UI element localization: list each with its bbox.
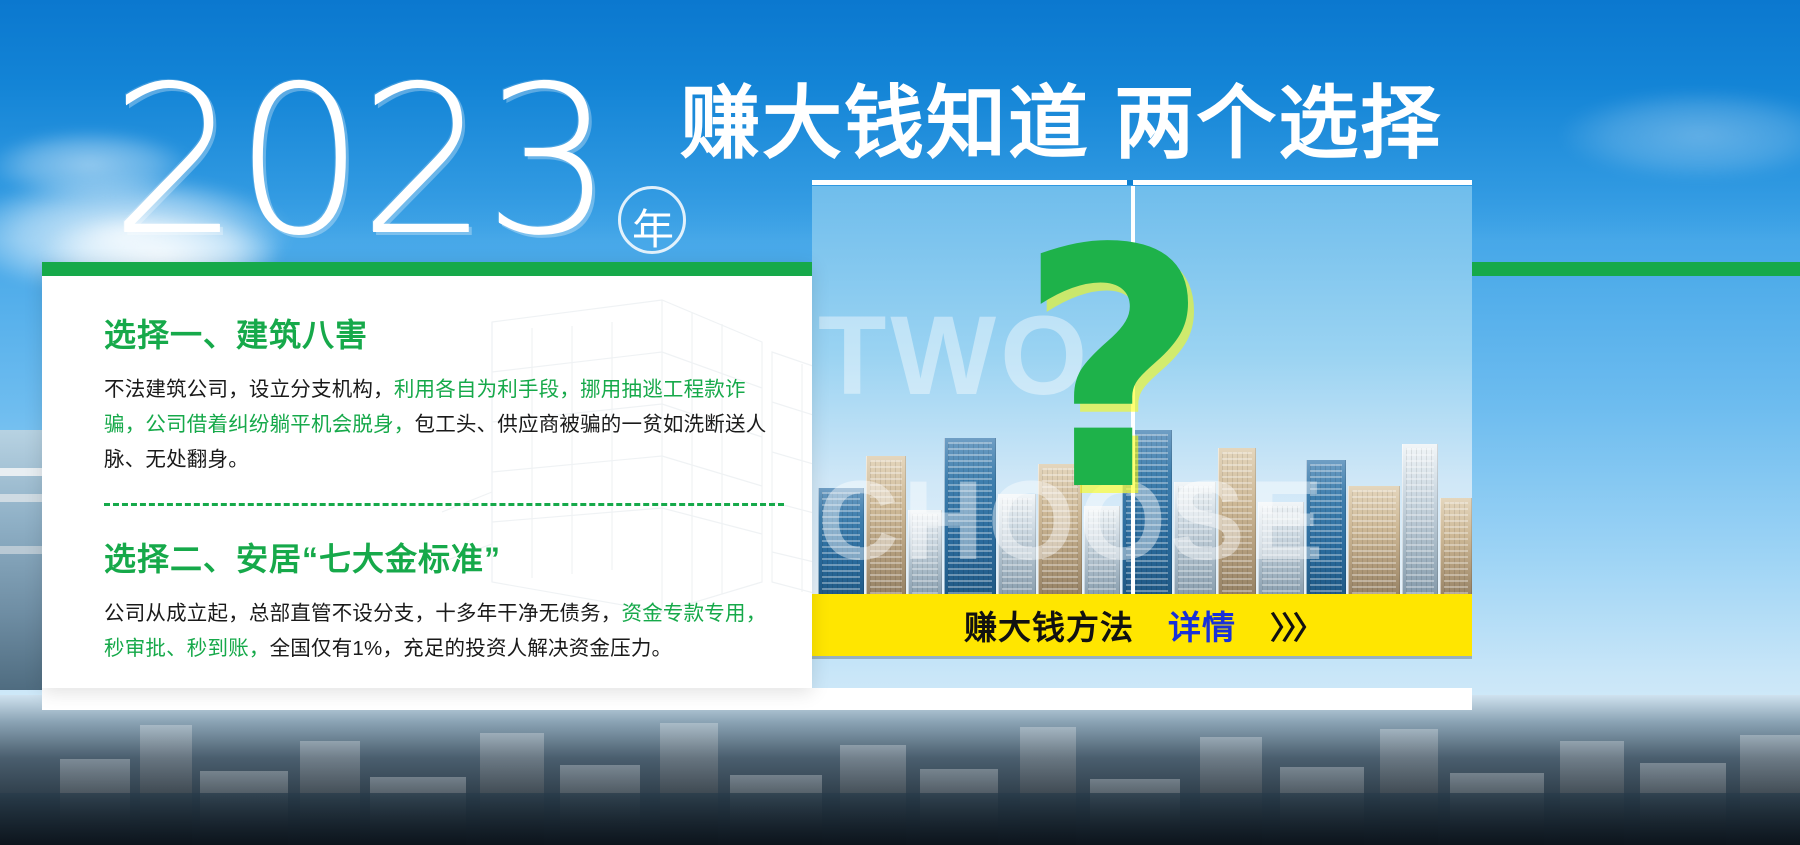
section-one-body: 不法建筑公司，设立分支机构，利用各自为利手段，挪用抽逃工程款诈骗，公司借着纠纷躺… — [104, 372, 784, 477]
card-bottom-strip — [42, 688, 1472, 710]
section-two-body: 公司从成立起，总部直管不设分支，十多年干净无债务，资金专款专用，秒审批、秒到账，… — [104, 596, 784, 666]
right-green-accent-bar — [1472, 262, 1800, 276]
year-suffix-label: 年 — [632, 196, 674, 257]
card-content: 选择一、建筑八害 不法建筑公司，设立分支机构，利用各自为利手段，挪用抽逃工程款诈… — [104, 310, 784, 666]
chevron-right-icon: 〉〉〉 — [1270, 603, 1320, 648]
page-title: 赚大钱知道 两个选择 — [680, 78, 1442, 170]
poster-canvas: 2023 年 赚大钱知道 两个选择 TWO CHOOSE ? — [0, 0, 1800, 845]
question-mark-icon: ? — [1018, 206, 1209, 536]
year-display: 2023 — [110, 62, 690, 262]
cta-detail-link[interactable]: 详情 — [1168, 601, 1236, 649]
section-divider — [104, 503, 784, 506]
content-card: 选择一、建筑八害 不法建筑公司，设立分支机构，利用各自为利手段，挪用抽逃工程款诈… — [42, 262, 812, 688]
section-one-text-part: 不法建筑公司，设立分支机构， — [104, 378, 394, 401]
skyline-photo-strip — [0, 695, 1800, 845]
cta-banner[interactable]: 赚大钱方法 详情 〉〉〉 — [812, 594, 1472, 656]
section-one-title: 选择一、建筑八害 — [104, 310, 784, 356]
section-two: 选择二、安居“七大金标准” 公司从成立起，总部直管不设分支，十多年干净无债务，资… — [104, 534, 784, 666]
cta-main-label: 赚大钱方法 — [964, 601, 1134, 649]
card-green-accent-bar — [42, 262, 812, 276]
section-two-title: 选择二、安居“七大金标准” — [104, 534, 784, 580]
section-two-text-part: 公司从成立起，总部直管不设分支，十多年干净无债务， — [104, 602, 622, 625]
section-two-text-part: 全国仅有1%，充足的投资人解决资金压力。 — [270, 637, 673, 660]
